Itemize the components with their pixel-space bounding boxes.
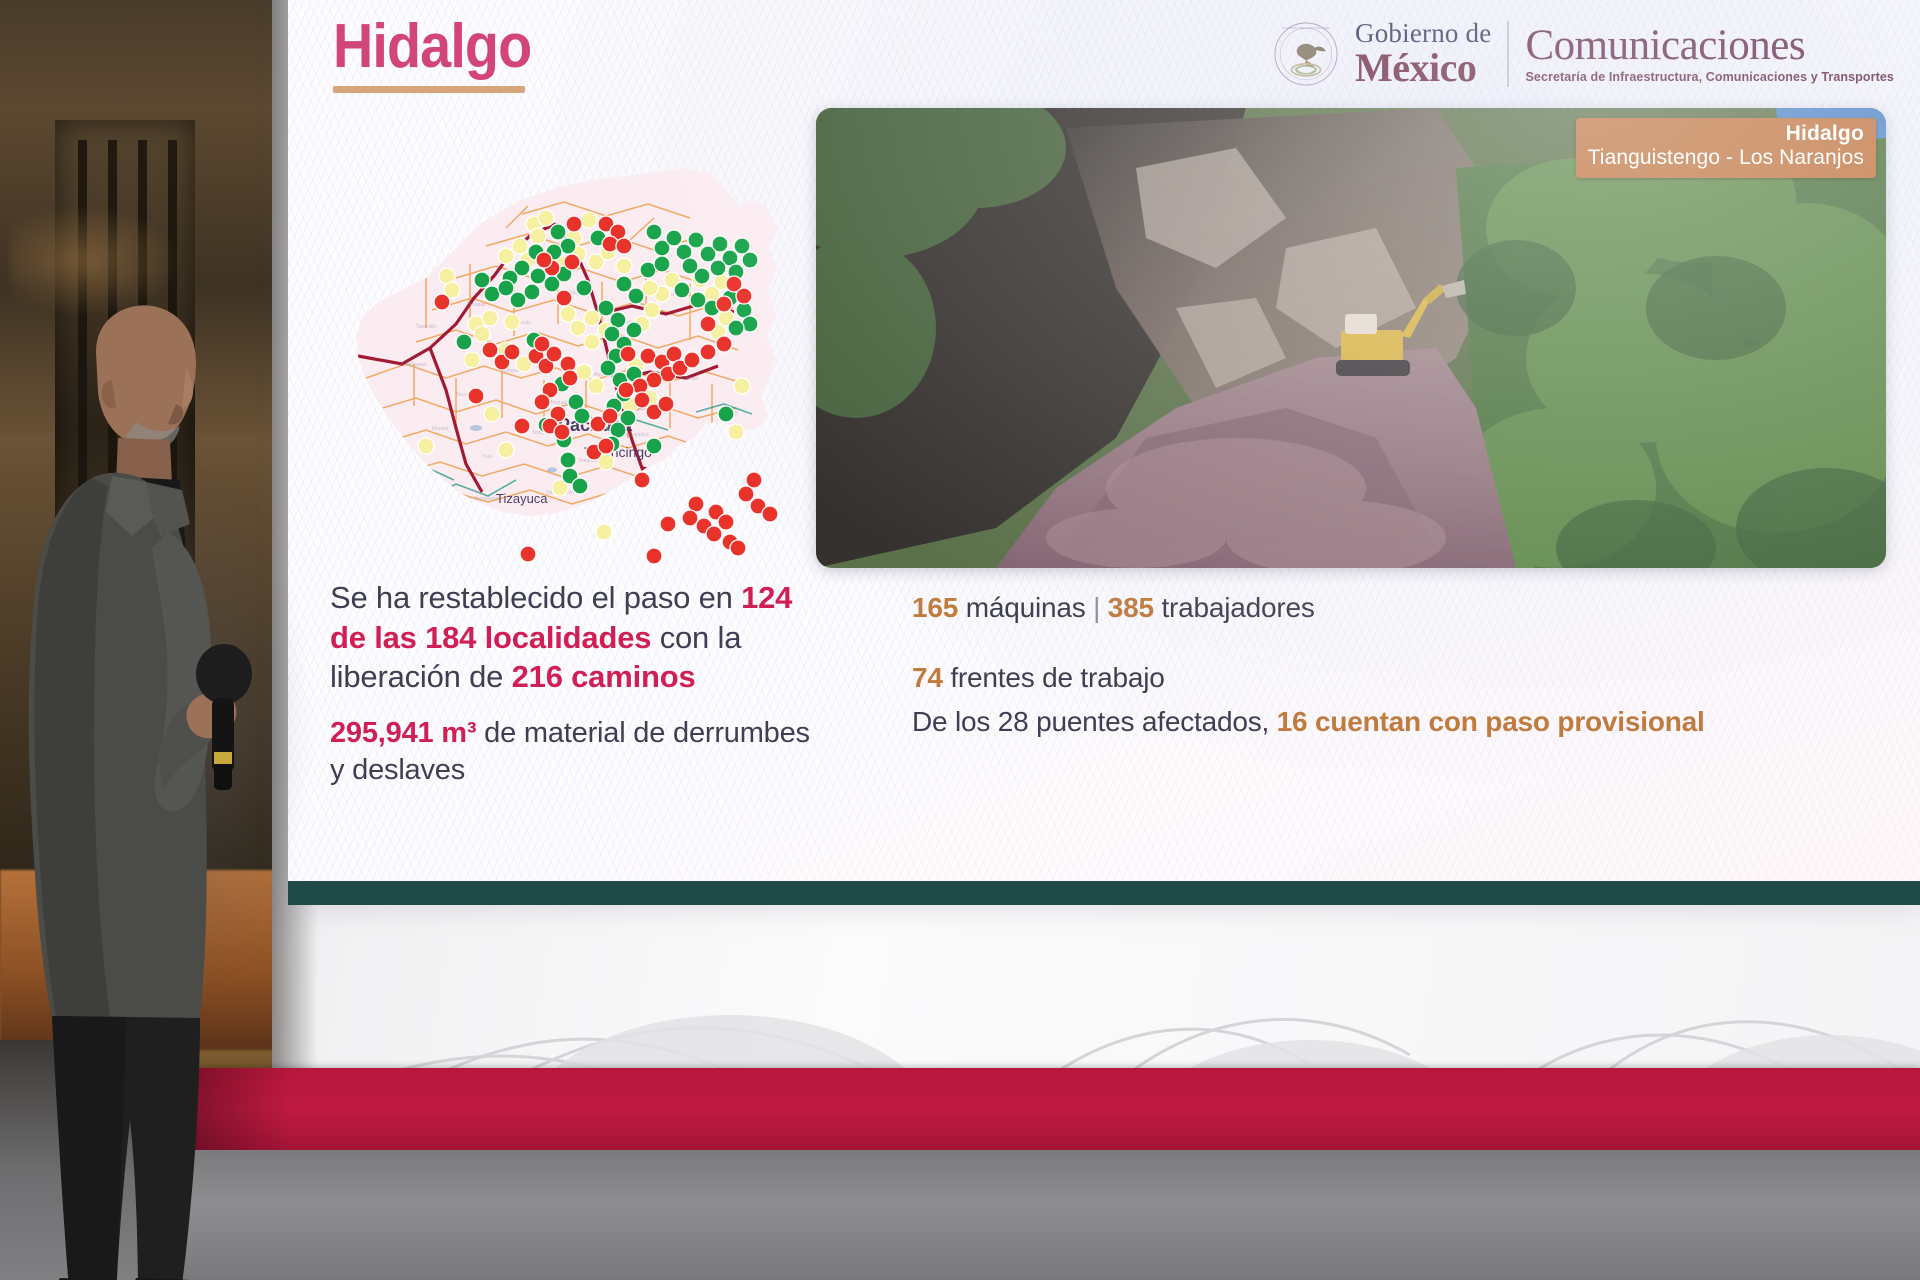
gobierno-line1: Gobierno de — [1355, 20, 1491, 47]
material-statement: 295,941 m³ de material de derrumbes y de… — [330, 715, 830, 789]
bridges-line: De los 28 puentes afectados, 16 cuentan … — [912, 704, 1872, 740]
stats-left-block: Se ha restablecido el paso en 124 de las… — [330, 578, 830, 789]
page-title: Hidalgo — [333, 16, 531, 78]
gobierno-line2: México — [1355, 48, 1491, 88]
localities-prefix: Se ha restablecido el paso en — [330, 580, 741, 615]
svg-text:Almoloya: Almoloya — [626, 494, 647, 500]
floor — [0, 1150, 1920, 1280]
dependency-wordmark: Comunicaciones Secretaría de Infraestruc… — [1525, 24, 1894, 84]
machines-label: máquinas — [958, 592, 1093, 623]
workers-label: trabajadores — [1154, 592, 1315, 623]
map-label-tizayuca: Tizayuca — [496, 491, 548, 506]
dependency-name: Comunicaciones — [1525, 24, 1894, 67]
photo-location-badge: Hidalgo Tianguistengo - Los Naranjos — [1576, 118, 1876, 178]
projected-slide: Hidalgo ESTADOS UNIDOS MEXICANOS Gobiern… — [288, 0, 1920, 905]
gobierno-de-mexico-wordmark: Gobierno de México — [1355, 20, 1491, 88]
government-logo-block: ESTADOS UNIDOS MEXICANOS Gobierno de Méx… — [1273, 12, 1894, 96]
svg-text:Acatlán: Acatlán — [664, 460, 681, 466]
photo-badge-route: Tianguistengo - Los Naranjos — [1588, 145, 1864, 171]
workers-value: 385 — [1100, 592, 1154, 623]
dependency-subtitle: Secretaría de Infraestructura, Comunicac… — [1525, 71, 1894, 84]
svg-text:Tula: Tula — [482, 454, 492, 460]
slide-footer-bar — [288, 881, 1920, 905]
machines-workers-line: 165 máquinas | 385 trabajadores — [912, 590, 1872, 626]
bridges-prefix: De los 28 puentes afectados, — [912, 706, 1277, 737]
svg-text:Nopala: Nopala — [432, 426, 449, 432]
hidalgo-state-map: HuichapanTecozautla ActopanMixquiahuala … — [306, 128, 806, 608]
photo-badge-state: Hidalgo — [1588, 122, 1864, 145]
svg-text:Villa de Tezontepec: Villa de Tezontepec — [456, 496, 501, 502]
backdrop-red-band — [152, 1068, 1920, 1160]
fronts-line: 74 frentes de trabajo — [912, 660, 1872, 696]
material-value: 295,941 m³ — [330, 717, 476, 749]
roads-value: 216 caminos — [512, 659, 696, 694]
press-conference-room: Hidalgo ESTADOS UNIDOS MEXICANOS Gobiern… — [0, 0, 1920, 1280]
mexican-coat-of-arms-icon: ESTADOS UNIDOS MEXICANOS — [1273, 21, 1339, 87]
stats-right-block: 165 máquinas | 385 trabajadores 74 frent… — [912, 590, 1872, 739]
svg-text:Calnali: Calnali — [682, 376, 698, 382]
svg-text:Zimapán: Zimapán — [466, 302, 486, 308]
field-photo: Hidalgo Tianguistengo - Los Naranjos — [816, 108, 1886, 568]
localities-statement: Se ha restablecido el paso en 124 de las… — [330, 578, 830, 697]
fronts-label: frentes de trabajo — [943, 662, 1165, 693]
fronts-value: 74 — [912, 662, 943, 693]
svg-text:Huichapan: Huichapan — [402, 362, 427, 368]
logo-divider — [1507, 21, 1509, 87]
presenter — [0, 300, 260, 1280]
machines-value: 165 — [912, 592, 958, 623]
title-underline — [333, 86, 525, 93]
svg-text:ESTADOS UNIDOS MEXICANOS: ESTADOS UNIDOS MEXICANOS — [1282, 26, 1330, 30]
bridges-value: 16 cuentan con paso provisional — [1277, 706, 1705, 737]
svg-text:Tasquillo: Tasquillo — [416, 324, 436, 330]
